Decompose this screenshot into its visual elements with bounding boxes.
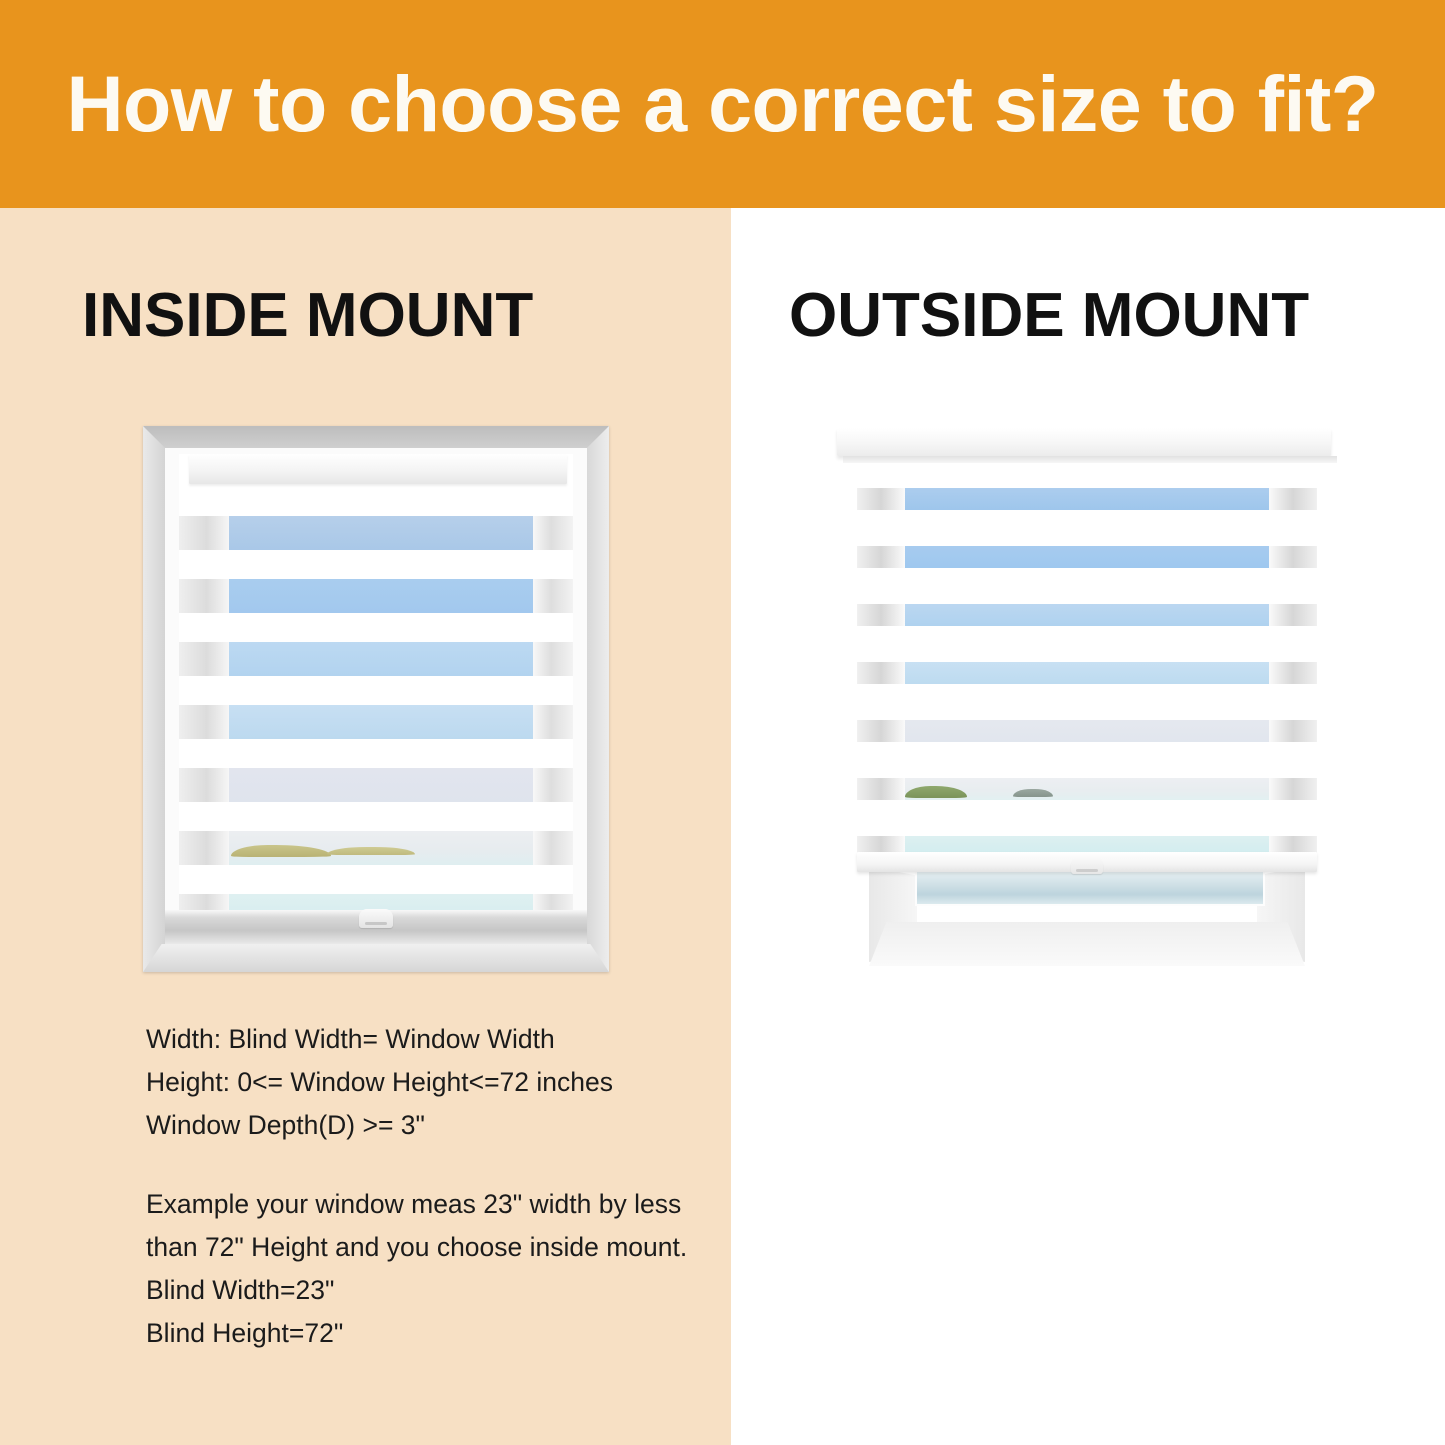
slat-cap-right [533, 705, 573, 739]
window-recess-bottom [869, 922, 1305, 966]
slat-cap-left [179, 642, 229, 676]
slat-cap-left [179, 768, 229, 802]
inside-mount-text: Width: Blind Width= Window Width Height:… [146, 1018, 706, 1355]
slat-cap-right [1269, 546, 1317, 568]
blind-slat [857, 720, 1317, 742]
slat-cap-left [857, 778, 905, 800]
island-shape-secondary [1013, 789, 1053, 797]
inside-mount-heading: INSIDE MOUNT [82, 280, 533, 351]
slat-view-band [219, 579, 549, 613]
slat-view-band [901, 662, 1273, 684]
slat-cap-right [533, 516, 573, 550]
blind-slat [857, 604, 1317, 626]
inside-spec-line: Width: Blind Width= Window Width [146, 1018, 706, 1061]
slat-cap-right [1269, 662, 1317, 684]
inside-example-line: Example your window meas 23" width by le… [146, 1183, 706, 1269]
slat-view-band [219, 768, 549, 802]
slat-cap-right [533, 642, 573, 676]
slat-cap-right [1269, 778, 1317, 800]
slat-cap-right [533, 894, 573, 910]
window-recess [165, 448, 587, 944]
slat-view-band [219, 516, 549, 550]
slat-view-band [901, 604, 1273, 626]
slat-cap-left [857, 488, 905, 510]
slat-view-band [219, 894, 549, 910]
blind-slat [857, 662, 1317, 684]
content-panels: INSIDE MOUNT [0, 208, 1445, 1445]
header-banner: How to choose a correct size to fit? [0, 0, 1445, 208]
slat-cap-left [179, 705, 229, 739]
slat-cap-right [533, 831, 573, 865]
outside-mount-illustration [829, 416, 1344, 976]
outside-mount-heading: OUTSIDE MOUNT [789, 280, 1309, 351]
paragraph-gap [146, 1147, 706, 1183]
blind-slat [179, 642, 573, 676]
blind-slat [857, 546, 1317, 568]
blind-headrail [837, 428, 1331, 456]
outside-mount-panel: OUTSIDE MOUNT [731, 208, 1445, 1445]
infographic-page: How to choose a correct size to fit? INS… [0, 0, 1445, 1445]
blind-pane [179, 454, 573, 910]
window-frame-bevel-top [143, 426, 609, 448]
slat-cap-right [533, 579, 573, 613]
window-frame-bevel-left [143, 426, 165, 972]
blind-headrail [189, 454, 567, 484]
slat-cap-left [179, 579, 229, 613]
slat-view-band [219, 705, 549, 739]
slat-cap-right [1269, 488, 1317, 510]
window-sill-assembly [857, 852, 1317, 970]
inside-example-line: Blind Width=23" [146, 1269, 706, 1312]
island-shape [905, 786, 967, 798]
inside-spec-line: Window Depth(D) >= 3" [146, 1104, 706, 1147]
blind-slat [857, 488, 1317, 510]
slat-cap-right [1269, 720, 1317, 742]
window-frame-bevel-right [587, 426, 609, 972]
window-glass-bottom [915, 870, 1265, 906]
island-shape-secondary [327, 847, 415, 855]
inside-spec-line: Height: 0<= Window Height<=72 inches [146, 1061, 706, 1104]
window-handle [359, 909, 393, 928]
slat-cap-left [179, 894, 229, 910]
window-handle [1071, 856, 1103, 874]
slat-view-band [901, 546, 1273, 568]
blind-slat [179, 579, 573, 613]
slat-view-band [901, 488, 1273, 510]
slat-cap-right [1269, 604, 1317, 626]
slat-cap-left [179, 516, 229, 550]
window-frame-bevel-bottom [143, 944, 609, 972]
slat-cap-left [857, 604, 905, 626]
slat-view-band [219, 831, 549, 865]
blind-slat [179, 768, 573, 802]
blind-slat [179, 705, 573, 739]
slat-cap-left [857, 546, 905, 568]
slat-view-band [219, 642, 549, 676]
page-title: How to choose a correct size to fit? [66, 58, 1378, 150]
slat-view-band [901, 720, 1273, 742]
slat-cap-left [857, 720, 905, 742]
inside-example-line: Blind Height=72" [146, 1312, 706, 1355]
slat-cap-left [179, 831, 229, 865]
slat-view-band [901, 778, 1273, 800]
blind-slat [179, 894, 573, 910]
inside-mount-illustration [143, 426, 609, 972]
blind-slat [179, 831, 573, 865]
slat-cap-right [533, 768, 573, 802]
island-shape [231, 845, 331, 857]
inside-mount-panel: INSIDE MOUNT [0, 208, 731, 1445]
blind-slat [179, 516, 573, 550]
slat-cap-left [857, 662, 905, 684]
blind-slat [857, 778, 1317, 800]
